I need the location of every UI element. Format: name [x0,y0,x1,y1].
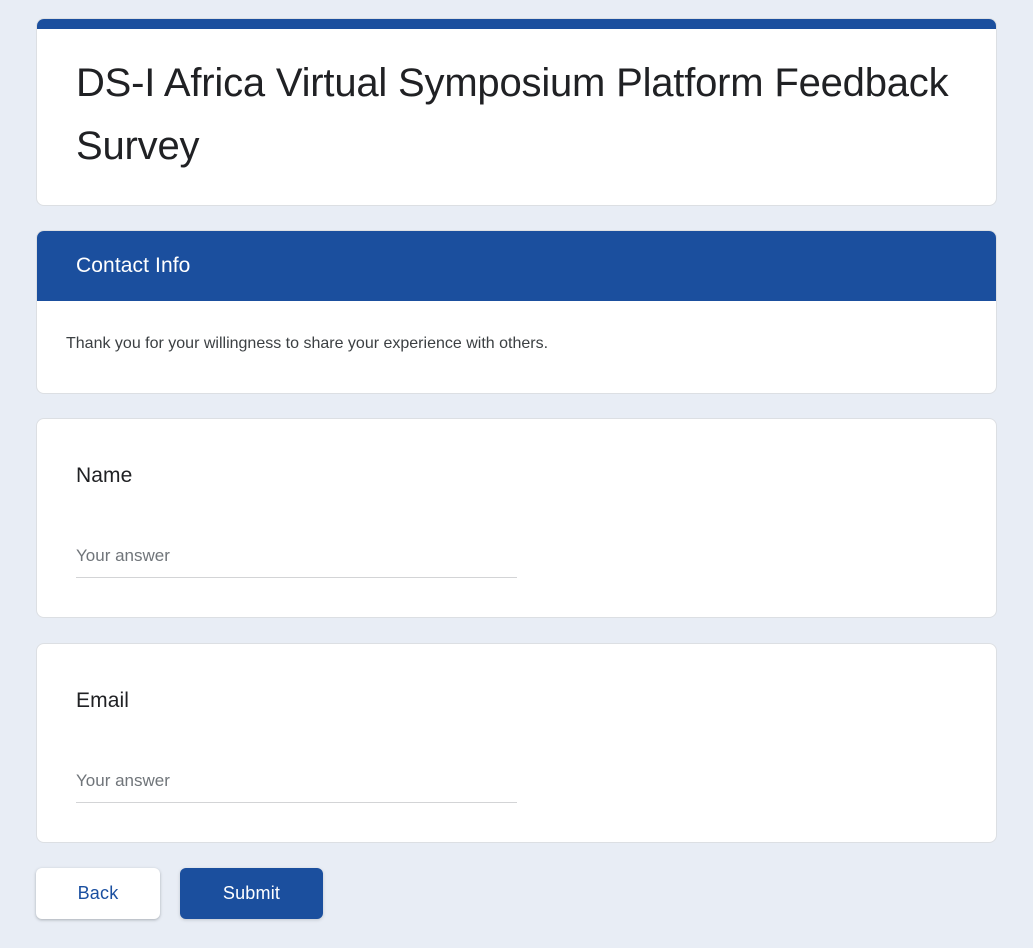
section-description: Thank you for your willingness to share … [66,333,957,355]
question-card-name: Name [36,418,997,618]
section-header: Contact Info [37,231,996,301]
section-card-contact-info: Contact Info Thank you for your willingn… [36,230,997,394]
email-input[interactable] [76,767,517,803]
question-label-name: Name [76,462,132,490]
section-body: Thank you for your willingness to share … [37,301,996,355]
form-title-card: DS-I Africa Virtual Symposium Platform F… [36,18,997,206]
accent-bar [36,18,997,29]
form-actions: Back Submit [36,868,323,919]
question-card-email: Email [36,643,997,843]
submit-button[interactable]: Submit [180,868,323,919]
form-page: DS-I Africa Virtual Symposium Platform F… [0,0,1033,948]
back-button[interactable]: Back [36,868,160,919]
page-title: DS-I Africa Virtual Symposium Platform F… [76,52,956,178]
section-title: Contact Info [76,254,190,278]
question-label-email: Email [76,687,129,715]
name-input[interactable] [76,542,517,578]
